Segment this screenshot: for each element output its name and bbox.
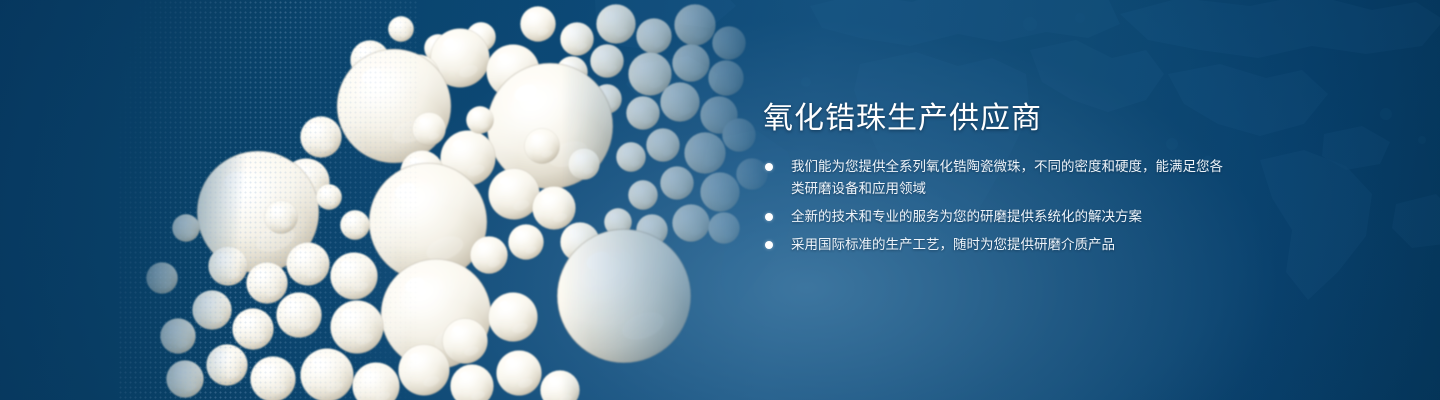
list-item: 全新的技术和专业的服务为您的研磨提供系统化的解决方案 bbox=[763, 206, 1233, 228]
list-item: 采用国际标准的生产工艺，随时为您提供研磨介质产品 bbox=[763, 234, 1233, 256]
hero-banner: 氧化锆珠生产供应商 我们能为您提供全系列氧化锆陶瓷微珠，不同的密度和硬度，能满足… bbox=[0, 0, 1440, 400]
bullet-dot-icon bbox=[765, 213, 773, 221]
banner-headline: 氧化锆珠生产供应商 bbox=[763, 104, 1233, 134]
list-item: 我们能为您提供全系列氧化锆陶瓷微珠，不同的密度和硬度，能满足您各类研磨设备和应用… bbox=[763, 156, 1233, 200]
banner-feature-list: 我们能为您提供全系列氧化锆陶瓷微珠，不同的密度和硬度，能满足您各类研磨设备和应用… bbox=[763, 156, 1233, 256]
bullet-dot-icon bbox=[765, 163, 773, 171]
bullet-text: 我们能为您提供全系列氧化锆陶瓷微珠，不同的密度和硬度，能满足您各类研磨设备和应用… bbox=[791, 156, 1233, 200]
bullet-text: 全新的技术和专业的服务为您的研磨提供系统化的解决方案 bbox=[791, 206, 1233, 228]
bullet-text: 采用国际标准的生产工艺，随时为您提供研磨介质产品 bbox=[791, 234, 1233, 256]
bullet-dot-icon bbox=[765, 241, 773, 249]
banner-copy: 氧化锆珠生产供应商 我们能为您提供全系列氧化锆陶瓷微珠，不同的密度和硬度，能满足… bbox=[763, 104, 1233, 256]
